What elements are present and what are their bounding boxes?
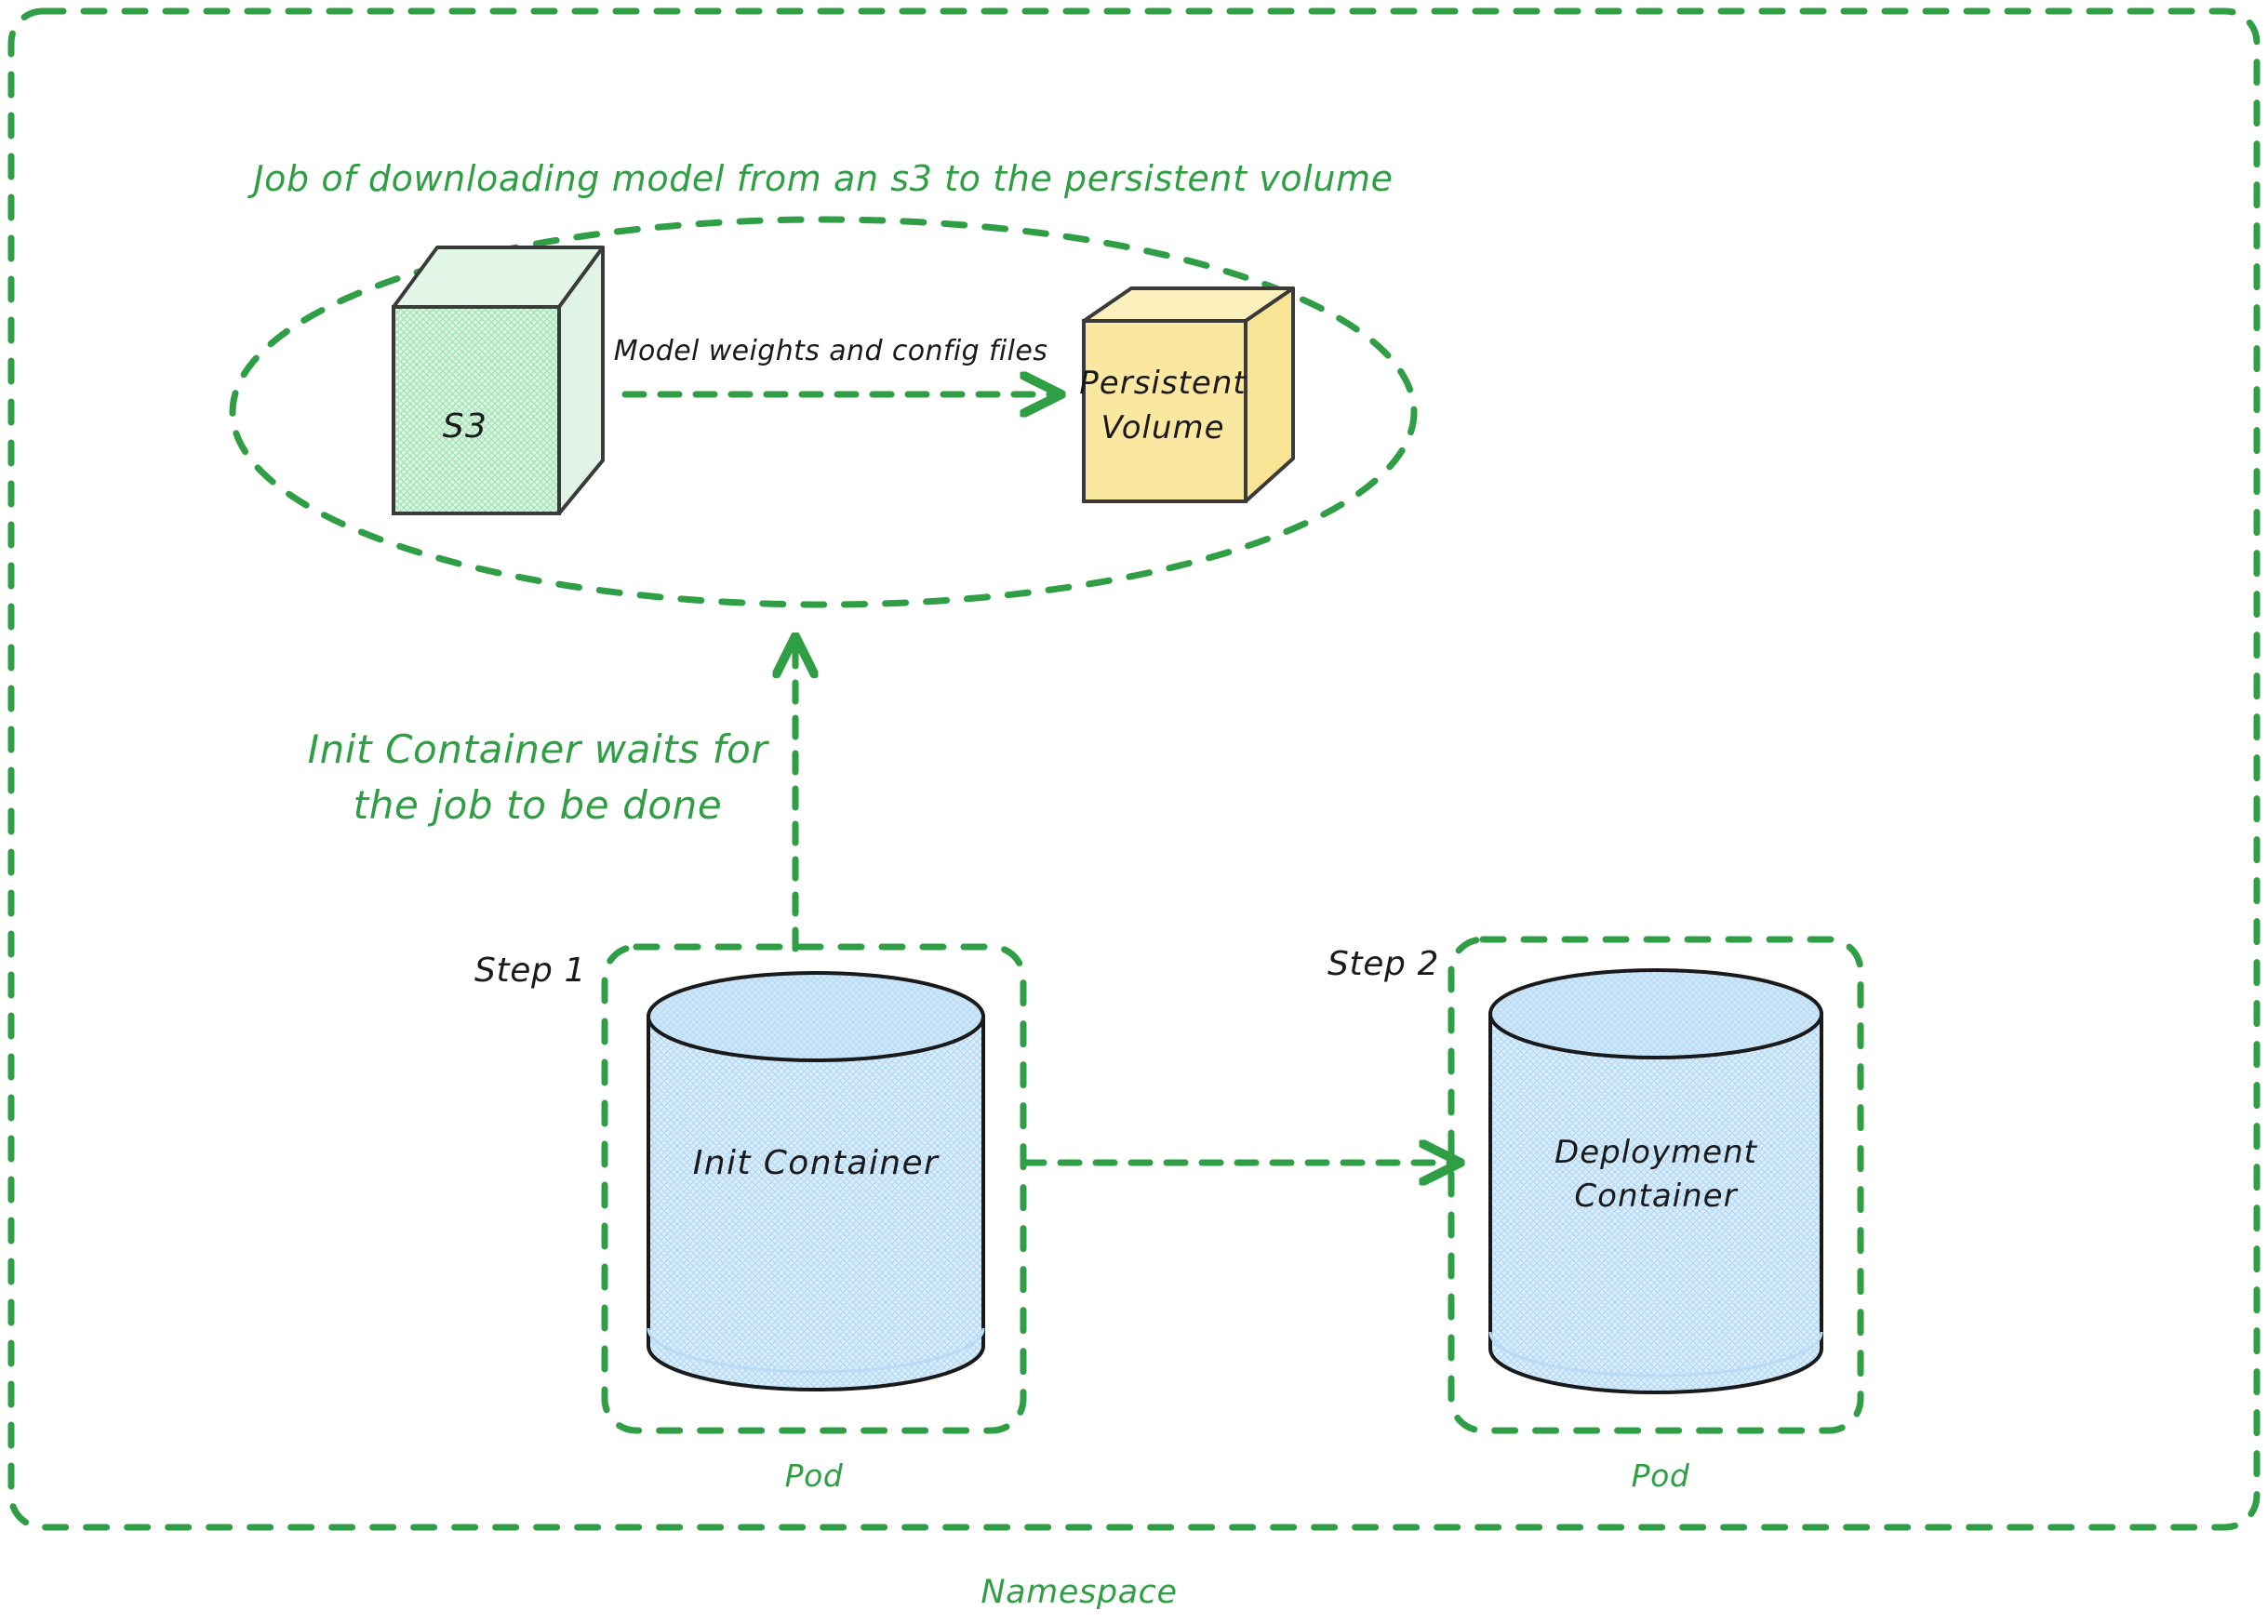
pod-2[interactable]: Deployment Container Step 2 Pod <box>1327 939 1861 1494</box>
deployment-container-top <box>1490 970 1821 1058</box>
init-container-label: Init Container <box>693 1144 940 1182</box>
node-init-container[interactable]: Init Container <box>648 973 983 1390</box>
pv-label-line1: Persistent <box>1079 365 1247 402</box>
deployment-container-label-line2: Container <box>1574 1178 1738 1215</box>
pod-2-label: Pod <box>1632 1458 1690 1494</box>
node-s3[interactable]: S3 <box>394 247 603 513</box>
deployment-container-label-line1: Deployment <box>1554 1134 1758 1171</box>
edge-init-waits-for-job: Init Container waits for the job to be d… <box>308 644 795 949</box>
job-group-title: Job of downloading model from an s3 to t… <box>247 158 1393 199</box>
edge-s3-to-pv-label: Model weights and config files <box>614 335 1048 367</box>
init-container-top <box>648 973 983 1060</box>
edge-init-waits-label-line1: Init Container waits for <box>308 726 770 772</box>
node-persistent-volume[interactable]: Persistent Volume <box>1079 288 1293 501</box>
namespace-label: Namespace <box>981 1574 1177 1611</box>
pod-1[interactable]: Init Container Step 1 Pod <box>474 947 1023 1494</box>
pod-2-step-label: Step 2 <box>1327 945 1439 983</box>
init-container-body <box>648 1017 983 1390</box>
s3-label: S3 <box>443 407 488 446</box>
edge-init-waits-label-line2: the job to be done <box>354 782 723 828</box>
pod-1-label: Pod <box>785 1458 844 1494</box>
edge-s3-to-pv: Model weights and config files <box>614 335 1054 394</box>
pod-1-step-label: Step 1 <box>474 952 586 990</box>
pv-label-line2: Volume <box>1101 409 1224 446</box>
node-deployment-container[interactable]: Deployment Container <box>1490 970 1821 1392</box>
pv-cube-side-face <box>1246 288 1293 501</box>
diagram-canvas: Job of downloading model from an s3 to t… <box>0 0 2268 1624</box>
architecture-diagram: Job of downloading model from an s3 to t… <box>0 0 2268 1624</box>
